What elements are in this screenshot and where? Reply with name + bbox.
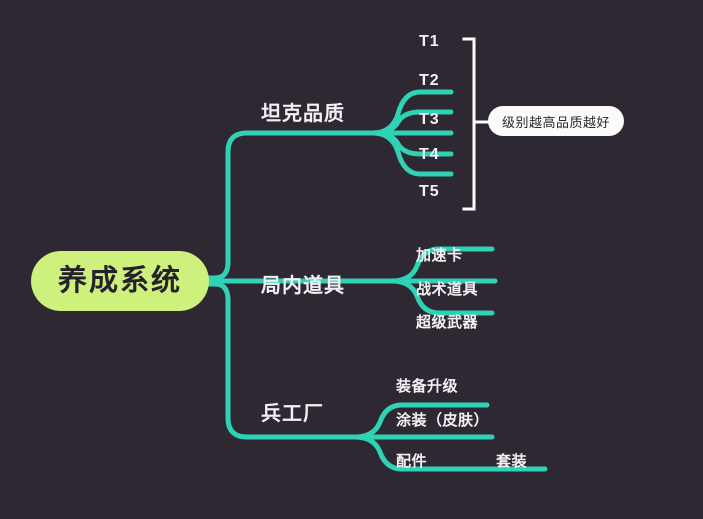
branch-label-ingame-items[interactable]: 局内道具 xyxy=(261,269,345,298)
leaf-label-suit-set[interactable]: 套装 xyxy=(496,450,527,471)
leaf-label-accessory[interactable]: 配件 xyxy=(396,450,427,471)
leaf-label-tactical-item[interactable]: 战术道具 xyxy=(416,278,478,299)
leaf-label-super-weapon[interactable]: 超级武器 xyxy=(416,311,478,332)
leaf-label-t3[interactable]: T3 xyxy=(419,111,440,129)
tier-annotation-callout[interactable]: 级别越高品质越好 xyxy=(488,106,624,136)
tier-group-bracket xyxy=(464,39,474,209)
branch-label-arsenal[interactable]: 兵工厂 xyxy=(261,397,324,426)
leaf-label-t2[interactable]: T2 xyxy=(419,72,440,90)
root-node-label: 养成系统 xyxy=(58,267,182,296)
leaf-label-t1[interactable]: T1 xyxy=(419,33,440,51)
root-node[interactable]: 养成系统 xyxy=(31,251,209,311)
leaf-label-paint-skin[interactable]: 涂装（皮肤） xyxy=(396,409,489,430)
leaf-label-t5[interactable]: T5 xyxy=(419,183,440,201)
mindmap-canvas: 养成系统 坦克品质 T1 T2 T3 T4 T5 级别越高品质越好 局内道具 加… xyxy=(0,0,703,519)
leaf-label-speed-card[interactable]: 加速卡 xyxy=(416,244,463,265)
leaf-label-equipment-upgrade[interactable]: 装备升级 xyxy=(396,375,458,396)
branch-label-tank-quality[interactable]: 坦克品质 xyxy=(261,97,345,126)
leaf-label-t4[interactable]: T4 xyxy=(419,146,440,164)
tier-annotation-text: 级别越高品质越好 xyxy=(502,112,610,131)
link-root-to-tank-quality xyxy=(206,133,373,278)
